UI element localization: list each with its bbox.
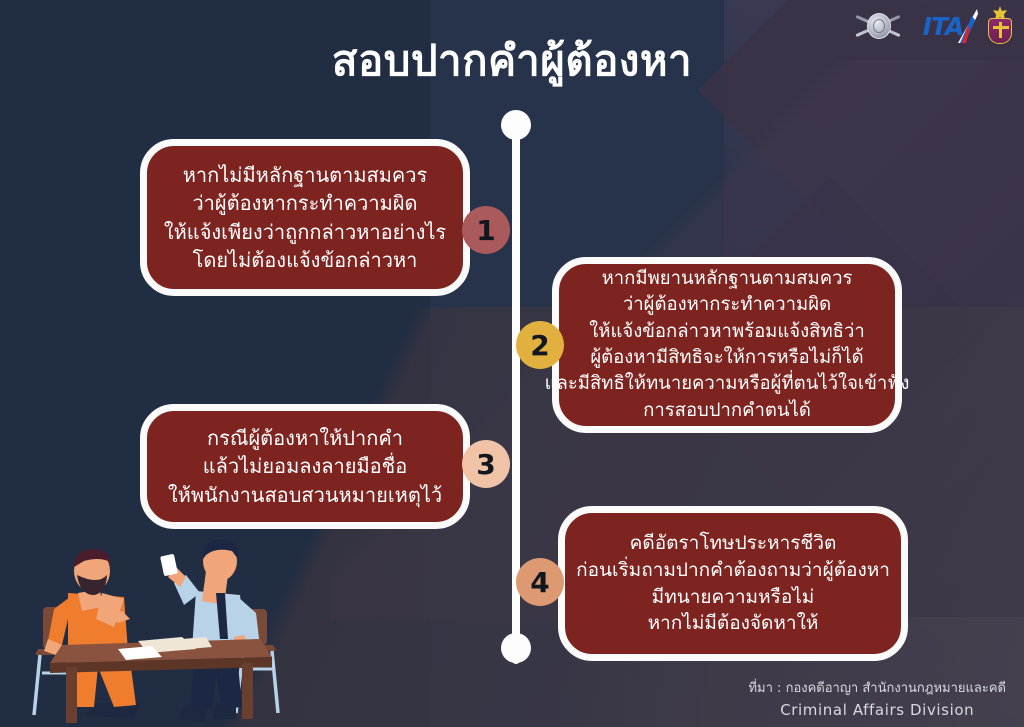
card-1-line-2: ว่าผู้ต้องหากระทำความผิด bbox=[192, 189, 417, 217]
interrogation-scene-illustration bbox=[10, 527, 310, 727]
timeline-node-1[interactable]: 1 bbox=[462, 206, 510, 254]
card-2-line-3: ให้แจ้งข้อกล่าวหาพร้อมแจ้งสิทธิว่า bbox=[589, 319, 864, 345]
timeline-node-2[interactable]: 2 bbox=[516, 321, 564, 369]
footer-source-english: Criminal Affairs Division bbox=[748, 699, 1006, 722]
card-4-line-1: คดีอัตราโทษประหารชีวิต bbox=[630, 530, 837, 557]
content-card-1: หากไม่มีหลักฐานตามสมควร ว่าผู้ต้องหากระท… bbox=[140, 139, 470, 296]
content-card-2: หากมีพยานหลักฐานตามสมควร ว่าผู้ต้องหากระ… bbox=[552, 257, 902, 433]
card-1-line-3: ให้แจ้งเพียงว่าถูกกล่าวหาอย่างไร bbox=[164, 218, 446, 246]
content-card-3: กรณีผู้ต้องหาให้ปากคำ แล้วไม่ยอมลงลายมือ… bbox=[140, 404, 470, 529]
suspect-figure bbox=[44, 549, 141, 719]
card-2-line-1: หากมีพยานหลักฐานตามสมควร bbox=[602, 266, 853, 292]
card-3-line-1: กรณีผู้ต้องหาให้ปากคำ bbox=[207, 424, 403, 452]
card-2-line-6: การสอบปากคำตนได้ bbox=[643, 398, 811, 424]
card-2-line-4: ผู้ต้องหามีสิทธิจะให้การหรือไม่ก็ได้ bbox=[590, 345, 863, 371]
infographic-poster: ITA สอบปากคำผู้ต้องหา 1 2 3 4 หากไม่มีหล… bbox=[0, 0, 1024, 727]
card-1-line-4: โดยไม่ต้องแจ้งข้อกล่าวหา bbox=[193, 246, 418, 274]
timeline-node-4[interactable]: 4 bbox=[516, 558, 564, 606]
card-2-line-5: และมีสิทธิให้ทนายความหรือผู้ที่ตนไว้ใจเข… bbox=[545, 371, 910, 397]
footer-source-thai: ที่มา : กองคดีอาญา สำนักงานกฎหมายและคดี bbox=[748, 679, 1006, 699]
timeline-node-3[interactable]: 3 bbox=[462, 440, 510, 488]
footer-credit: ที่มา : กองคดีอาญา สำนักงานกฎหมายและคดี … bbox=[748, 679, 1006, 721]
card-4-line-4: หากไม่มีต้องจัดหาให้ bbox=[648, 610, 819, 637]
page-title: สอบปากคำผู้ต้องหา bbox=[0, 28, 1024, 94]
card-1-line-1: หากไม่มีหลักฐานตามสมควร bbox=[183, 161, 428, 189]
card-4-line-2: ก่อนเริ่มถามปากคำต้องถามว่าผู้ต้องหา bbox=[576, 557, 890, 584]
card-3-line-2: แล้วไม่ยอมลงลายมือชื่อ bbox=[203, 452, 408, 480]
card-2-line-2: ว่าผู้ต้องหากระทำความผิด bbox=[623, 292, 831, 318]
content-card-4: คดีอัตราโทษประหารชีวิต ก่อนเริ่มถามปากคำ… bbox=[558, 506, 908, 661]
card-3-line-3: ให้พนักงานสอบสวนหมายเหตุไว้ bbox=[168, 481, 442, 509]
card-4-line-3: มีทนายความหรือไม่ bbox=[652, 584, 815, 611]
timeline-start-cap bbox=[501, 110, 531, 140]
timeline-end-cap bbox=[501, 633, 531, 663]
